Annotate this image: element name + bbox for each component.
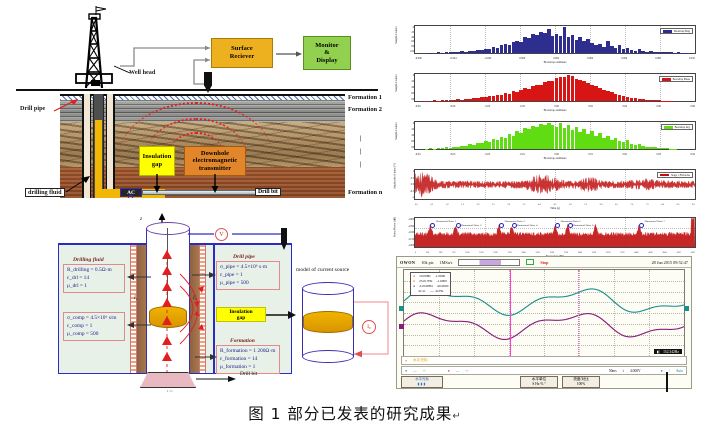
drill-bit-label: Drill bit [255, 188, 281, 196]
ground-electrode [281, 228, 287, 244]
drill-pipe-leader [52, 98, 82, 114]
z-axis-label: z [140, 216, 142, 222]
cursor-b[interactable] [578, 270, 579, 356]
harmonic-peak-marker [568, 223, 573, 228]
scope-datetime: 28 Jun 2015 09:52:47 [652, 260, 688, 265]
drill-bit-shape [140, 372, 196, 388]
formation-title: Formation [230, 338, 255, 344]
timebase-value: 50ms [609, 369, 617, 373]
btn-cursor-line3: 100% [577, 382, 585, 387]
y-ticks-4: 10.50.0-0.5-1 [404, 170, 414, 199]
sample-depth: 10k pts [421, 260, 433, 265]
transmitter-line1: Downhole [193, 150, 238, 158]
surface-receiver-box[interactable]: Surface Reciever [211, 38, 273, 68]
freq-readout-value: 152.342Hz [663, 350, 679, 354]
ch1-marker-icon[interactable] [399, 306, 404, 311]
figure-c-matlab-plots: Bootstrap Mag 020406080100 -0.006-0.004-… [392, 22, 700, 254]
button-brightness-contrast[interactable]: 亮度/对比 100% [562, 376, 600, 388]
legend-4: Stage 1 EM noise [657, 172, 693, 178]
formation-col-left [137, 245, 146, 373]
harmonic-peak-label: Harmonical Noise 4 [517, 224, 537, 227]
formation-2-label: Formation 2 [348, 106, 382, 113]
param-line: μ_comp = 500 [67, 331, 121, 339]
harmonic-peak-label: Harmonical Noise 7 [645, 220, 665, 223]
figure-caption: 图 1 部分已发表的研究成果↵ [0, 402, 710, 424]
insulation-line2: gap [143, 161, 172, 169]
scope-control-row: ●—⎓ ●—⎓ 50ms ⟟ 4.000V ●/ Auto [401, 366, 687, 375]
channel-badge: 水平光标 [413, 358, 427, 363]
current-source-icon: I₀ [362, 320, 376, 334]
param-arrow-2 [125, 320, 153, 330]
freq-readout-icon: ◧ [657, 350, 660, 354]
y-ticks-3: 020406080 [404, 122, 414, 149]
insulation-tag-arrow [266, 310, 298, 320]
legend-label: Bootstrap Avg [675, 126, 690, 129]
button-horizontal-cursor[interactable]: 水平光标 ▮▮▮ [401, 376, 443, 388]
legend-swatch [664, 126, 673, 129]
surface-electrode-tip [204, 85, 212, 93]
scope-footer: ● 水平光标 ●—⎓ ●—⎓ 50ms ⟟ 4.000V ●/ Auto 水平光… [397, 356, 691, 388]
y-axis-label-3: Sample Counts [394, 122, 398, 140]
drill-pipe-title: Drill pipe [233, 254, 255, 260]
model-of-current-source-label: model of current source [296, 267, 349, 273]
axes-4: Stage 1 EM noise 10.50.0-0.5-1 0.00.51.0… [414, 169, 696, 200]
trig-mode: Auto [676, 369, 683, 373]
histogram-bars-2 [415, 74, 695, 101]
drilling-fluid-title: Drilling fluid [73, 257, 104, 263]
run-indicator-icon [526, 259, 534, 265]
legend-label: Bootstrap Mag [674, 30, 690, 33]
model-gold-disc [303, 311, 353, 333]
param-line: μ_pipe = 500 [220, 280, 276, 288]
y-ticks-5: -1000-1050-1100-1150-1200 [404, 218, 414, 247]
button-left-bars-icon: ▮▮▮ [418, 382, 427, 387]
model-cylinder-top [302, 282, 354, 295]
drilling-fluid-label: drilling fluid [25, 188, 65, 197]
downhole-transmitter-box[interactable]: Downhole electromagnetic transmitter [184, 146, 246, 176]
cement-hatch-left [130, 245, 137, 373]
param-line: σ_pipe = 4.5×10⁶ s·m [220, 264, 276, 272]
harmonic-peak-marker [512, 223, 517, 228]
plot-bootstrap-mag: Bootstrap Mag 020406080100 -0.006-0.004-… [392, 22, 700, 66]
cursor-measurement-box: ● 10.00Hz -1.0000 ● 25.617Hz -1.0000 Δ Δ… [410, 272, 451, 296]
well-head-leader [108, 64, 132, 78]
sample-rate: 1MSa/s [440, 260, 453, 265]
box-down-arrows [133, 174, 258, 196]
x-axis-label-2: Bootstrap estimates [415, 108, 695, 112]
ch2-marker-icon[interactable] [399, 324, 404, 329]
formation-1-label: Formation 1 [348, 94, 382, 101]
x-axis-label-1: Bootstrap estimates [415, 60, 695, 64]
btn-measure-line2: S Hz % ° [532, 382, 545, 387]
monitor-line1: Monitor [315, 42, 338, 50]
axes-5: Harmonical Noise 1Harmonical Noise 2Harm… [414, 217, 696, 248]
param-line: ε_drl = 14 [67, 275, 121, 283]
y-axis-label-4: Amplitude of noise (V) [394, 163, 397, 189]
model-cylinder-bottom [302, 350, 354, 363]
param-line: R_formation = 1 200Ω·m [220, 348, 276, 356]
plot-bootstrap-avg: Bootstrap Avg 020406080 -0.04-0.03-0.02-… [392, 118, 700, 162]
harmonic-peak-label: Harmonical Noise 1 [436, 220, 456, 223]
param-line: ε_comp = 1 [67, 323, 121, 331]
plot-noise-spectrum: Harmonical Noise 1Harmonical Noise 2Harm… [392, 214, 700, 260]
harmonic-peak-label: Harmonical Noise 2 [461, 224, 481, 227]
legend-1: Bootstrap Mag [660, 28, 693, 34]
histogram-bars-3 [415, 122, 695, 149]
param-line: μ_drl = 1 [67, 283, 121, 291]
transmitter-line3: transmitter [193, 165, 238, 173]
param-arrow-3 [190, 270, 218, 280]
y-ticks-1: 020406080100 [404, 26, 414, 53]
scope-status-row: ● 水平光标 [401, 356, 687, 365]
scope-header: OWON 10k pts 1MSa/s Stop 28 Jun 2015 09:… [397, 257, 691, 268]
legend-swatch [660, 174, 669, 175]
figure-b-current-source-model: z [30, 212, 390, 392]
formation-ellipsis-3: | [360, 161, 361, 168]
param-line: σ_comp = 4.5×10⁶ s/m [67, 315, 121, 323]
component-params: σ_comp = 4.5×10⁶ s/m ε_comp = 1 μ_comp =… [63, 312, 125, 341]
drill-bit-leader [196, 374, 240, 384]
ground-electrode-tip [281, 243, 287, 250]
current-arrows-up [156, 246, 178, 374]
figure-a-drilling-schematic: AC Surface Reciever Monitor [8, 6, 383, 202]
formation-ellipsis-2: | [360, 148, 361, 155]
drilling-fluid-leader [64, 176, 94, 194]
histogram-bars-1 [415, 26, 695, 53]
harmonic-peak-marker [456, 223, 461, 228]
scope-waveform-area[interactable]: ● 10.00Hz -1.0000 ● 25.617Hz -1.0000 Δ Δ… [403, 269, 685, 357]
button-horizontal-unit[interactable]: 水平单位 S Hz % ° [520, 376, 558, 388]
insulation-gap-tag[interactable]: Insulation gap [216, 307, 266, 322]
freq-readout: ◧ 152.342Hz [654, 349, 682, 354]
legend-2: Bootstrap Phase [659, 76, 693, 82]
y-axis-label-2: Sample Counts [394, 74, 398, 92]
y-ticks-2: 020406080 [404, 74, 414, 101]
voltmeter-icon: V [215, 228, 228, 241]
current-i2-label: I₂ [193, 296, 196, 301]
param-line: ε_formation = 14 [220, 356, 276, 364]
y-axis-label-5: Noise Power (dB) [394, 217, 397, 237]
legend-label: Stage 1 EM noise [671, 174, 690, 177]
legend-swatch [663, 30, 672, 33]
transmitter-line2: electromagnetic [193, 157, 238, 165]
meas-ratio: d1:x1 [418, 289, 426, 294]
legend-3: Bootstrap Avg [661, 124, 693, 130]
memory-bar[interactable] [458, 259, 520, 266]
formation-ellipsis-1: | [360, 135, 361, 142]
meas-unit: ---- dv/Hz [430, 289, 444, 294]
owon-logo: OWON [400, 260, 415, 265]
drill-pipe-params: σ_pipe = 4.5×10⁶ s·m ε_pipe = 1 μ_pipe =… [216, 261, 280, 290]
drill-pipe-label: Drill pipe [19, 105, 46, 112]
run-status: Stop [540, 260, 548, 265]
legend-swatch [662, 78, 671, 81]
meas-marker: Δ [413, 284, 415, 289]
bit-ellipsis: ⋮ [166, 388, 173, 394]
plot-bootstrap-phase: Bootstrap Phase 020406080 -0.08-0.06-0.0… [392, 70, 700, 114]
surface-receiver-line2: Reciever [230, 53, 255, 61]
insulation-gap-box[interactable]: Insulation gap [139, 146, 175, 176]
param-line: R_drilling = 0.5Ω·m [67, 267, 121, 275]
param-line: ε_pipe = 1 [220, 272, 276, 280]
x-axis-label-4: Time (s) [415, 206, 695, 210]
axes-1: Bootstrap Mag 020406080100 -0.006-0.004-… [414, 25, 696, 54]
axes-3: Bootstrap Avg 020406080 -0.04-0.03-0.02-… [414, 121, 696, 150]
current-i1-label: I₁ [134, 296, 137, 301]
axes-2: Bootstrap Phase 020406080 -0.08-0.06-0.0… [414, 73, 696, 102]
drilling-fluid-params: R_drilling = 0.5Ω·m ε_drl = 14 μ_drl = 1 [63, 264, 125, 293]
drill-bit-label-b: Drill bit [240, 371, 257, 377]
mud-column [95, 120, 102, 198]
harmonic-peak-label: Harmonical Noise 6 [573, 224, 593, 227]
noise-trace [415, 170, 695, 199]
surface-electrode [204, 72, 212, 86]
plot-em-noise-time: Stage 1 EM noise 10.50.0-0.5-1 0.00.51.0… [392, 166, 700, 212]
trig-icon: ⟟ [623, 369, 624, 373]
insulation-line1: Insulation [143, 153, 172, 161]
surface-receiver-line1: Surface [230, 45, 255, 53]
y-axis-label-1: Sample Counts [394, 26, 398, 44]
legend-label: Bootstrap Phase [673, 78, 690, 81]
x-axis-label-3: Bootstrap estimates [415, 156, 695, 160]
figure-page: AC Surface Reciever Monitor [0, 0, 710, 433]
insulation-tag-line2: gap [219, 315, 263, 321]
trig-level: 4.000V [630, 369, 641, 373]
caption-text: 图 1 部分已发表的研究成果 [248, 405, 452, 423]
figure-d-oscilloscope: OWON 10k pts 1MSa/s Stop 28 Jun 2015 09:… [396, 256, 692, 389]
monitor-line2: & [315, 49, 338, 57]
text-cursor [666, 372, 668, 392]
monitor-display-box[interactable]: Monitor & Display [303, 36, 351, 70]
paragraph-mark: ↵ [452, 411, 461, 422]
drill-pipe-top-ellipse [146, 222, 190, 235]
param-arrow-1 [125, 272, 153, 282]
well-head-label: Well head [128, 69, 156, 76]
cursor-a[interactable] [510, 270, 511, 356]
monitor-line3: Display [315, 57, 338, 65]
formation-n-label: Formation n [348, 189, 382, 196]
param-arrow-4 [193, 352, 219, 362]
ch1-marker-right-icon [684, 306, 689, 311]
